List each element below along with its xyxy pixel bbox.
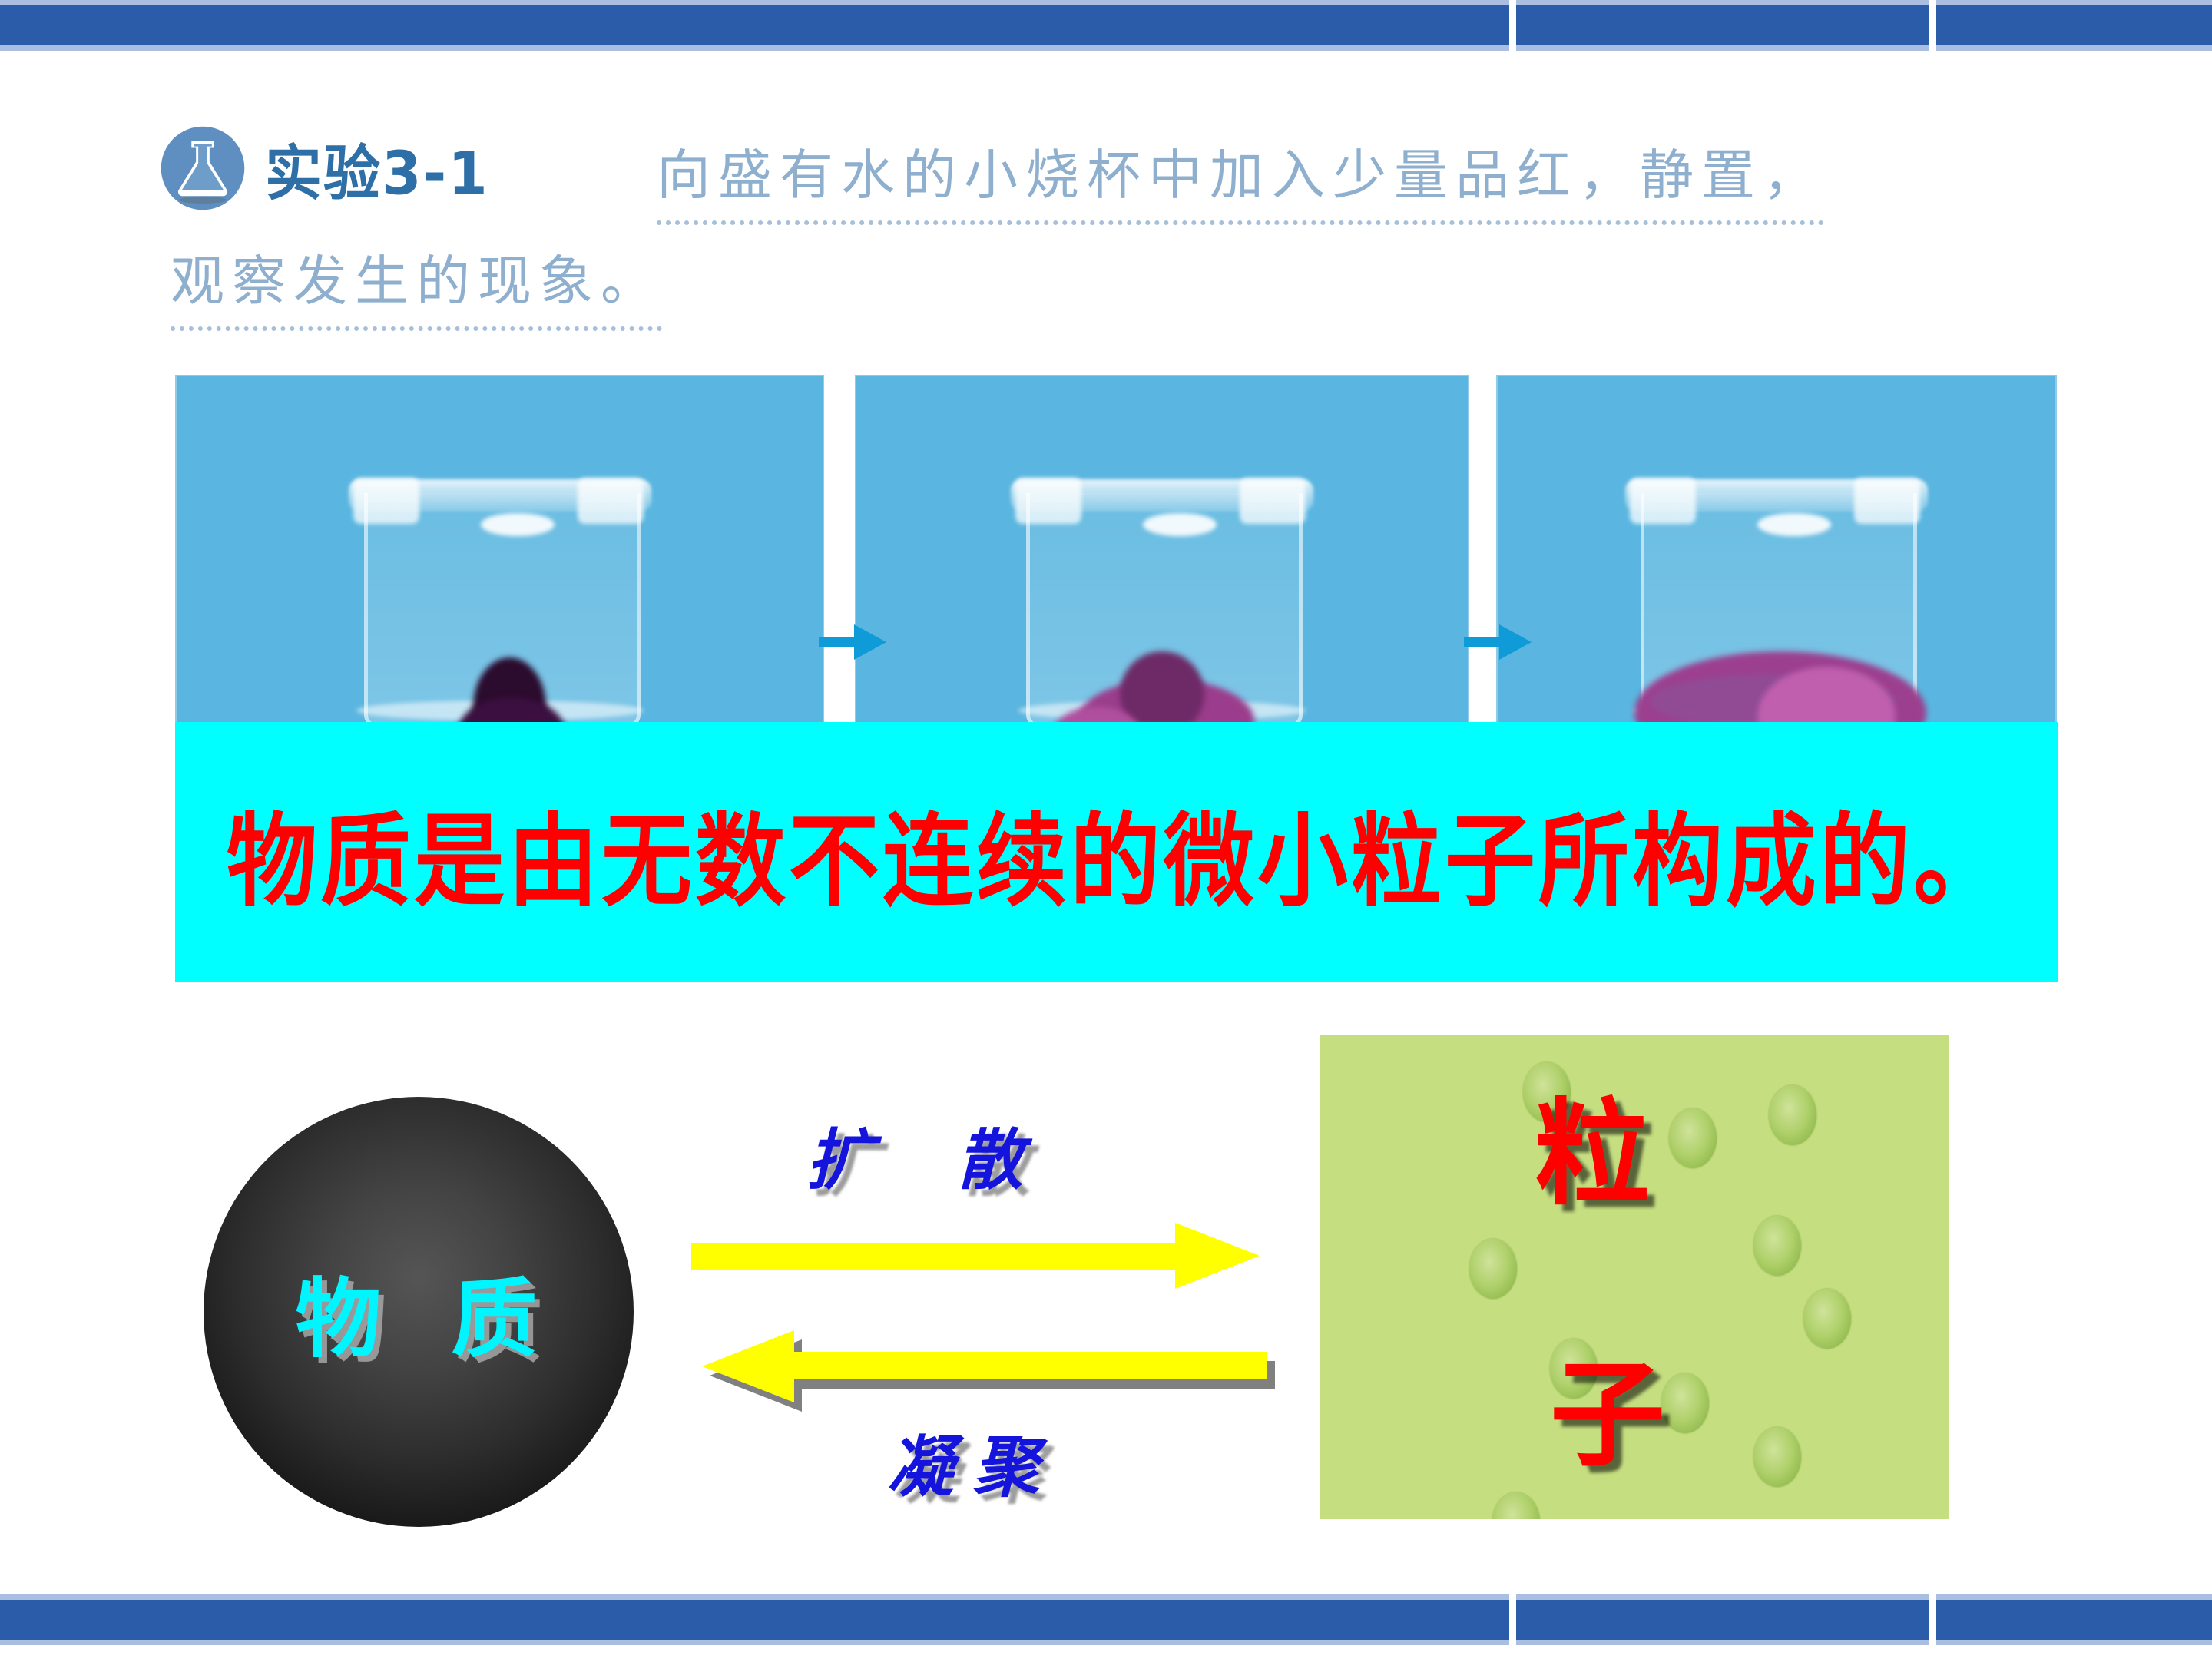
beaker-illustration <box>343 467 657 736</box>
arrow-head <box>1175 1223 1260 1289</box>
bottom-bar-divider-1 <box>1509 1594 1516 1645</box>
top-bar-divider-2 <box>1929 0 1936 51</box>
substance-sphere: 物 质 <box>204 1097 634 1527</box>
beaker-gleam <box>481 513 555 536</box>
diffusion-label: 扩 散 <box>806 1106 1054 1202</box>
particle-circle <box>1492 1492 1540 1519</box>
diffusion-arrow-icon <box>691 1223 1260 1289</box>
particle-circle <box>1669 1108 1717 1168</box>
arrow-head <box>854 624 886 660</box>
photo-beaker-initial <box>175 375 824 736</box>
arrow-right-icon <box>819 624 886 660</box>
bottom-bar-divider-2 <box>1929 1594 1936 1645</box>
arrow-head <box>1499 624 1532 660</box>
flask-icon <box>157 123 248 214</box>
substance-label: 物 质 <box>296 1250 558 1374</box>
conclusion-text: 物质是由无数不连续的微小粒子所构成的。 <box>227 778 2007 926</box>
instruction-line-2: 观察发生的现象。 <box>171 238 662 331</box>
top-bar-highlight <box>0 0 2212 5</box>
top-bar-underline <box>0 45 2212 51</box>
bottom-bar-highlight <box>0 1594 2212 1600</box>
arrow-shaft <box>691 1243 1183 1270</box>
arrow-head <box>702 1330 794 1402</box>
particle-circle <box>1769 1085 1816 1145</box>
top-decor-bar <box>0 0 2212 51</box>
photo-beaker-spreading <box>855 375 1469 736</box>
particle-circle <box>1661 1373 1709 1433</box>
bottom-decor-bar <box>0 1594 2212 1645</box>
particle-circle <box>1753 1427 1801 1487</box>
condensation-label: 凝聚 <box>887 1413 1059 1509</box>
transformation-arrows: 扩 散 凝聚 <box>691 1106 1298 1536</box>
top-bar-divider-1 <box>1509 0 1516 51</box>
beaker-illustration <box>1005 467 1320 736</box>
particle-circle <box>1753 1216 1801 1276</box>
experiment-label: 实验3-1 <box>265 125 489 211</box>
arrow-right-icon <box>1464 624 1532 660</box>
particle-box: 粒 子 <box>1320 1035 1949 1519</box>
condensation-arrow-icon <box>699 1330 1267 1404</box>
bottom-bar-underline <box>0 1640 2212 1645</box>
conclusion-banner: 物质是由无数不连续的微小粒子所构成的。 <box>175 722 2058 982</box>
beaker-gleam <box>1143 513 1217 536</box>
beaker-illustration <box>1619 467 1934 736</box>
experiment-photo-strip <box>175 375 2057 743</box>
experiment-heading: 实验3-1 <box>157 123 489 214</box>
particle-char-bottom: 子 <box>1550 1358 1665 1473</box>
slide-canvas: 实验3-1 向盛有水的小烧杯中加入少量品红，静置， 观察发生的现象。 <box>0 0 2212 1659</box>
instruction-line-1: 向盛有水的小烧杯中加入少量品红，静置， <box>657 132 1824 225</box>
particle-char-top: 粒 <box>1535 1097 1650 1212</box>
particle-circle <box>1469 1239 1517 1299</box>
arrow-shaft <box>791 1352 1267 1379</box>
beaker-gleam <box>1757 513 1831 536</box>
particle-circle <box>1803 1289 1851 1349</box>
photo-beaker-dispersed <box>1496 375 2057 736</box>
